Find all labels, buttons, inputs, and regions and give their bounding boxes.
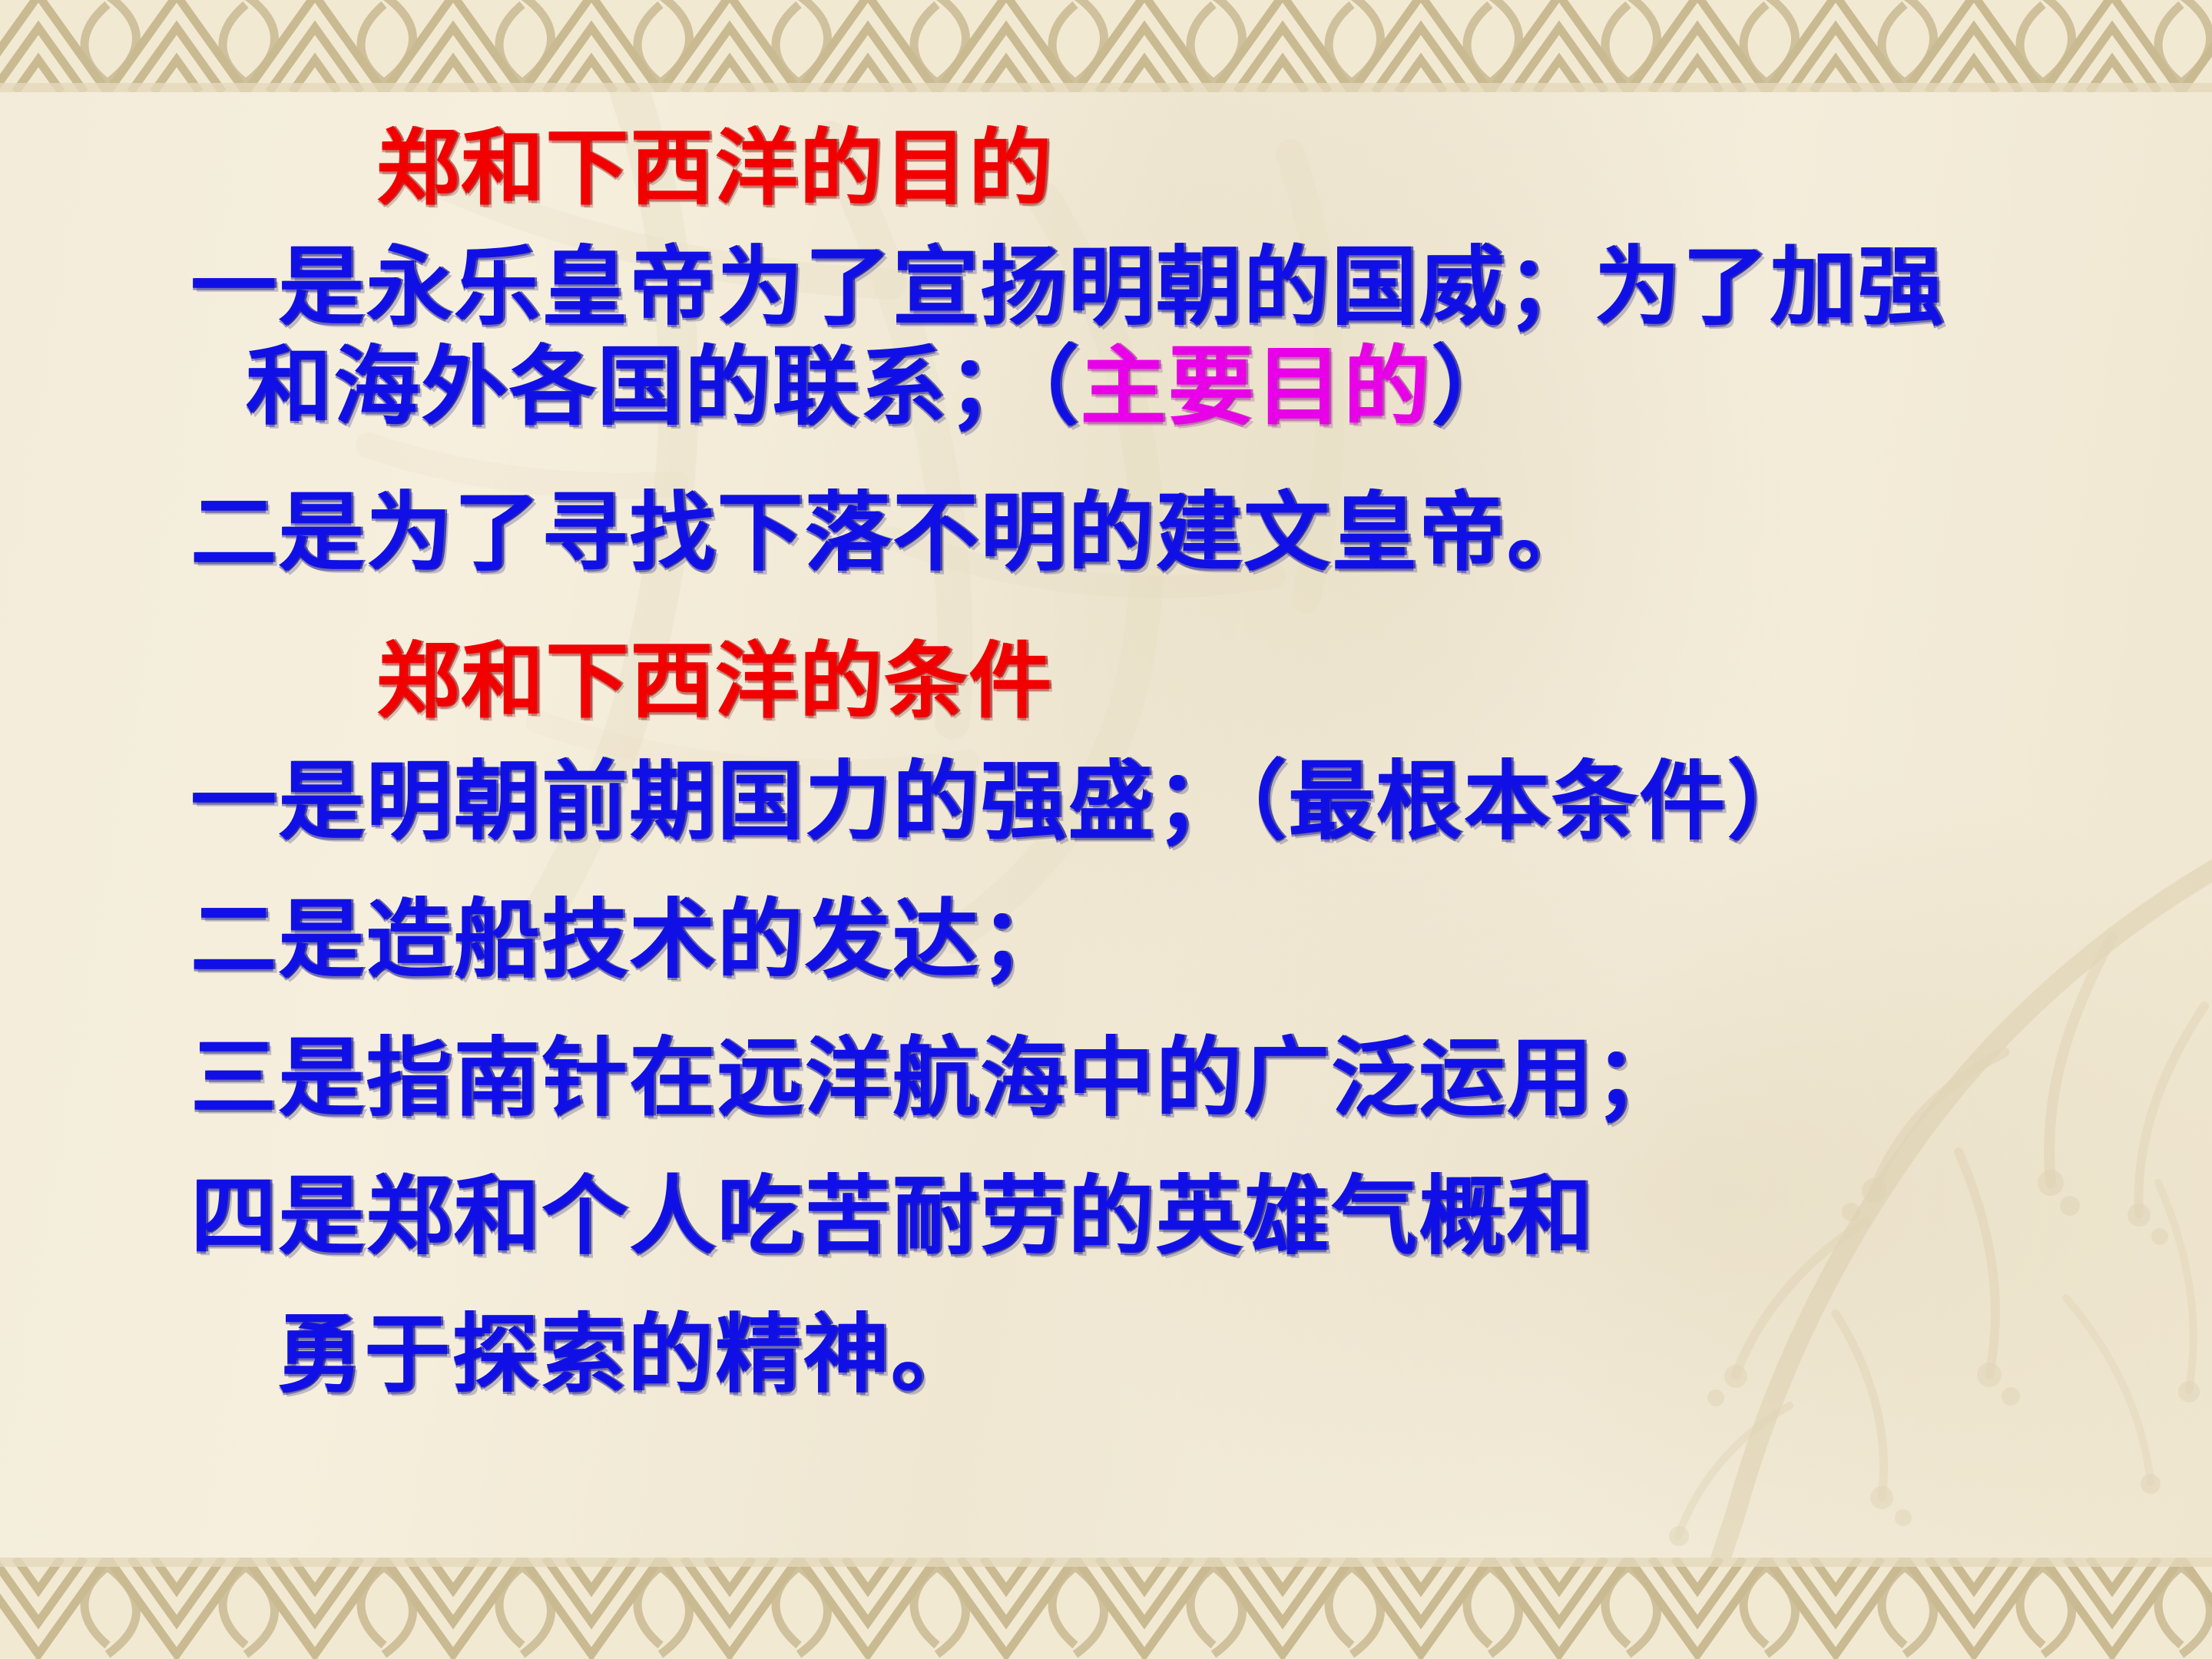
- purpose-item-1-continued: 和海外各国的联系；（主要目的）: [246, 344, 1519, 430]
- condition-item-2: 二是造船技术的发达；: [190, 897, 1068, 983]
- heading-purpose: 郑和下西洋的目的: [376, 127, 1053, 210]
- top-ornamental-border: [0, 0, 2212, 92]
- condition-item-4-continued: 勇于探索的精神。: [276, 1312, 979, 1398]
- purpose-line-2-suffix: ）: [1431, 337, 1518, 437]
- condition-item-3: 三是指南针在远洋航海中的广泛运用；: [190, 1035, 1682, 1121]
- condition-item-4: 四是郑和个人吃苦耐劳的英雄气概和: [190, 1174, 1594, 1260]
- purpose-main-objective-highlight: 主要目的: [1080, 337, 1431, 437]
- purpose-item-2: 二是为了寻找下落不明的建文皇帝。: [190, 490, 1594, 576]
- slide-body: 郑和下西洋的目的 一是永乐皇帝为了宣扬明朝的国威；为了加强 和海外各国的联系；（…: [0, 91, 2212, 1565]
- presentation-slide: 郑和下西洋的目的 一是永乐皇帝为了宣扬明朝的国威；为了加强 和海外各国的联系；（…: [0, 0, 2212, 1659]
- purpose-item-1: 一是永乐皇帝为了宣扬明朝的国威；为了加强: [190, 244, 1945, 330]
- condition-item-1: 一是明朝前期国力的强盛；（最根本条件）: [190, 759, 1815, 845]
- purpose-line-2-prefix: 和海外各国的联系；（: [246, 337, 1080, 437]
- heading-conditions: 郑和下西洋的条件: [376, 641, 1053, 724]
- bottom-ornamental-border: [0, 1558, 2212, 1659]
